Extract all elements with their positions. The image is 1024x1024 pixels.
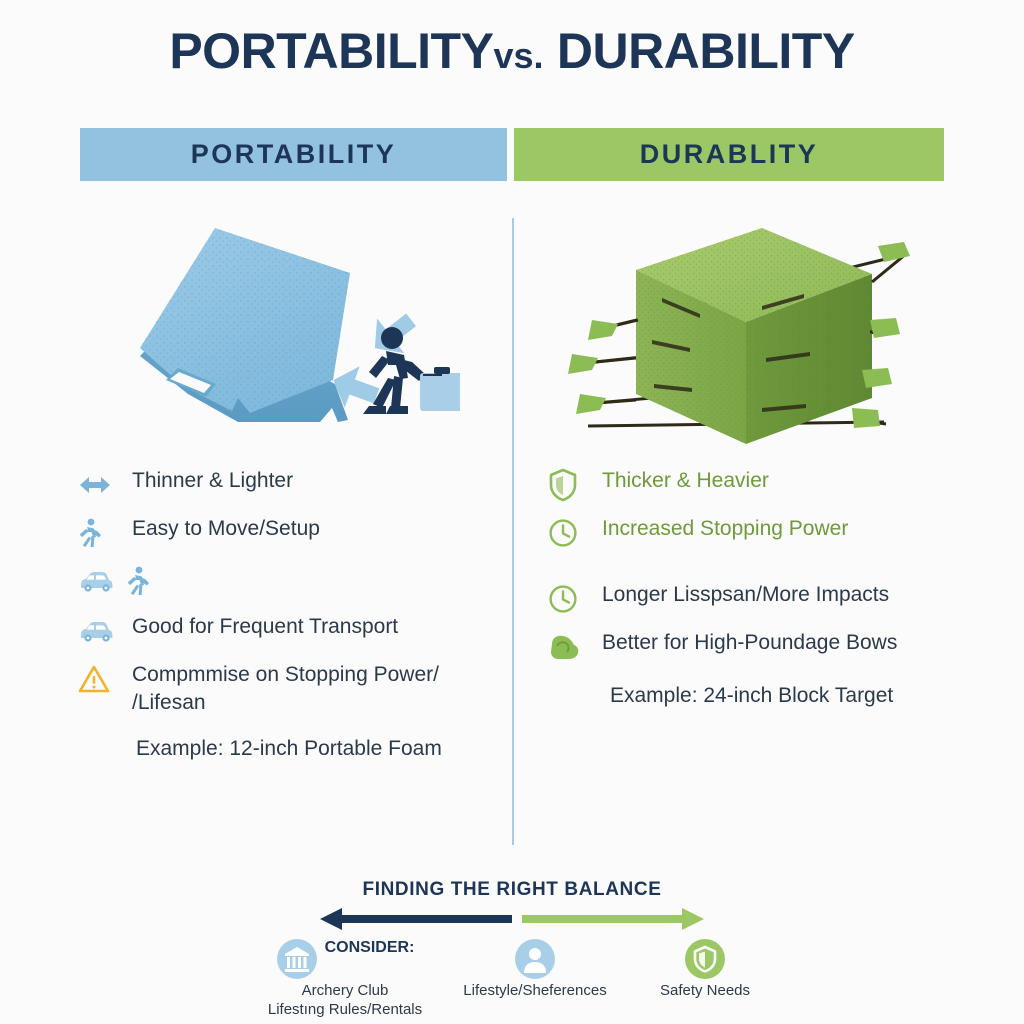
feature-row: Compmmise on Stopping Power/ /Lifesan: [78, 660, 498, 717]
feature-label: Easy to Move/Setup: [132, 514, 320, 543]
title-part-portability: PORTABILITY: [169, 23, 493, 79]
header-label-portability: PORTABILITY: [191, 139, 397, 170]
feature-row: Thicker & Heavier: [548, 466, 968, 502]
double-arrow-horizontal-icon: [78, 466, 132, 502]
consider-item-archery-club: CONSIDER: Archery Club Lifestıng Rules/R…: [250, 938, 440, 1019]
feature-label: Thicker & Heavier: [602, 466, 769, 495]
header-bar-portability: PORTABILITY: [80, 128, 507, 181]
feature-label: Longer Lisspsan/More Impacts: [602, 580, 889, 609]
feature-row: Increased Stopping Power: [548, 514, 968, 568]
feature-label: Increased Stopping Power: [602, 514, 848, 543]
feature-list-portability: Thinner & Lighter Easy to Move/Setup: [78, 466, 498, 762]
page-title: PORTABILITYvs. DURABILITY: [0, 22, 1024, 80]
feature-label: Good for Frequent Transport: [132, 612, 398, 641]
example-label-durability: Example: 24-inch Block Target: [610, 682, 968, 709]
consider-line-1: Archery Club: [302, 982, 389, 1001]
header-bar-durability: DURABLITY: [514, 128, 944, 181]
car-icon: [78, 612, 132, 648]
muscle-arm-icon: [548, 628, 602, 664]
consider-line-2: Lifestyle/Sheferences: [463, 982, 606, 1001]
feature-row: Easy to Move/Setup: [78, 514, 498, 550]
balance-title: FINDING THE RIGHT BALANCE: [0, 879, 1024, 901]
feature-label: Thinner & Lighter: [132, 466, 293, 495]
feature-row: Good for Frequent Transport: [78, 612, 498, 648]
consider-items-row: CONSIDER: Archery Club Lifestıng Rules/R…: [250, 938, 780, 1019]
clock-icon: [548, 514, 602, 550]
feature-label: Compmmise on Stopping Power/ /Lifesan: [132, 660, 498, 717]
header-label-durability: DURABLITY: [640, 139, 819, 170]
arrow-left-navy: [320, 908, 512, 930]
car-and-walking-person-icons: [78, 562, 162, 598]
consider-item-safety: Safety Needs: [630, 938, 780, 1001]
consider-item-lifestyle: Lifestyle/Sheferences: [453, 938, 618, 1001]
bank-building-icon: [276, 938, 318, 980]
walking-person-icon: [78, 514, 132, 550]
car-icon: [78, 569, 114, 593]
feature-row: Thinner & Lighter: [78, 466, 498, 502]
consider-heading: CONSIDER:: [325, 938, 415, 958]
illustration-block-target-with-arrows: [566, 212, 932, 450]
shield-icon: [548, 466, 602, 502]
consider-line-2: Lifestıng Rules/Rentals: [268, 1001, 422, 1020]
title-part-durability: DURABILITY: [557, 23, 855, 79]
feature-row-icons-only: [78, 562, 498, 606]
infographic-canvas: PORTABILITYvs. DURABILITY PORTABILITY DU…: [0, 0, 1024, 1024]
walking-person-icon: [126, 566, 150, 596]
person-icon: [514, 938, 556, 980]
feature-row: Better for High-Poundage Bows: [548, 628, 968, 664]
feature-row: Longer Lisspsan/More Impacts: [548, 580, 968, 616]
title-vs: vs.: [493, 35, 543, 76]
illustration-portable-foam-target: [120, 208, 460, 444]
example-label-portability: Example: 12-inch Portable Foam: [136, 735, 498, 762]
arrow-right-green: [522, 908, 704, 930]
feature-list-durability: Thicker & Heavier Increased Stopping Pow…: [548, 466, 968, 709]
column-divider: [512, 218, 514, 845]
warning-triangle-icon: [78, 660, 132, 696]
feature-label: Better for High-Poundage Bows: [602, 628, 897, 657]
clock-icon: [548, 580, 602, 616]
balance-bidirectional-arrow: [290, 903, 734, 935]
consider-line-2: Safety Needs: [660, 982, 750, 1001]
shield-circle-icon: [684, 938, 726, 980]
